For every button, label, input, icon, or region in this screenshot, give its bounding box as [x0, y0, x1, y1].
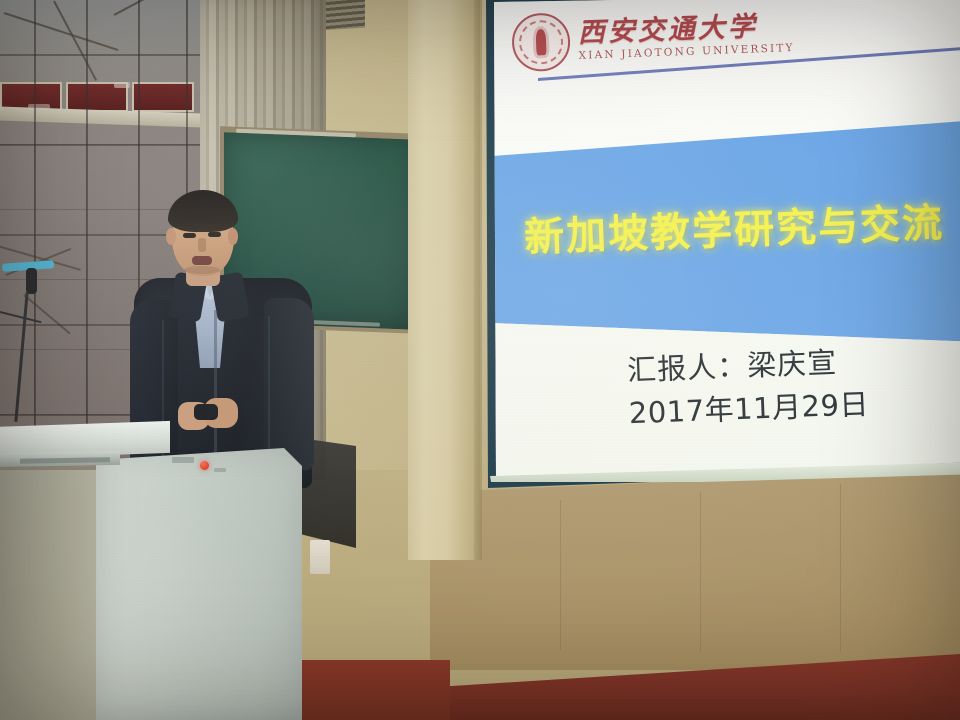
- presenter-ear: [228, 228, 238, 245]
- presenter-sleeve-right: [264, 298, 314, 470]
- university-logo: 西安交通大学 XIAN JIAOTONG UNIVERSITY: [511, 0, 803, 79]
- wainscot-seam: [840, 484, 841, 652]
- wall-socket: [310, 540, 330, 574]
- university-logo-text: 西安交通大学 XIAN JIAOTONG UNIVERSITY: [577, 12, 795, 61]
- slide-presenter-block: 汇报人：梁庆宣 2017年11月29日: [627, 339, 960, 434]
- projection-screen: 西安交通大学 XIAN JIAOTONG UNIVERSITY 新加坡教学研究与…: [478, 0, 960, 490]
- presentation-remote: [194, 404, 218, 420]
- presenter-mouth: [192, 256, 212, 265]
- presenter-ear: [166, 228, 176, 245]
- presenter-chin-shadow: [184, 266, 220, 274]
- microphone-icon: [26, 268, 37, 294]
- slide-surface: 西安交通大学 XIAN JIAOTONG UNIVERSITY 新加坡教学研究与…: [478, 0, 960, 488]
- wainscot-seam: [560, 500, 561, 650]
- photo-scene: 西安交通大学 XIAN JIAOTONG UNIVERSITY 新加坡教学研究与…: [0, 0, 960, 720]
- power-led-indicator: [200, 461, 209, 470]
- podium-side-panel: [0, 470, 104, 720]
- presenter-jacket-seam: [268, 316, 270, 466]
- presenter-eye: [208, 232, 221, 237]
- wall-pillar: [408, 0, 480, 560]
- wainscot-seam: [700, 492, 701, 652]
- university-seal-icon: [511, 12, 571, 72]
- wall-wainscot-panel: [430, 470, 960, 670]
- presenter-hair: [168, 190, 238, 232]
- transom-panel: [132, 82, 194, 112]
- lectern-brand-mark: [172, 457, 194, 463]
- presenter-nose: [198, 238, 206, 252]
- lectern-label: [214, 468, 226, 472]
- floor-left: [300, 660, 450, 720]
- university-name-cn: 西安交通大学: [577, 12, 794, 47]
- lectern: [96, 448, 316, 720]
- presenter-eye: [183, 233, 196, 238]
